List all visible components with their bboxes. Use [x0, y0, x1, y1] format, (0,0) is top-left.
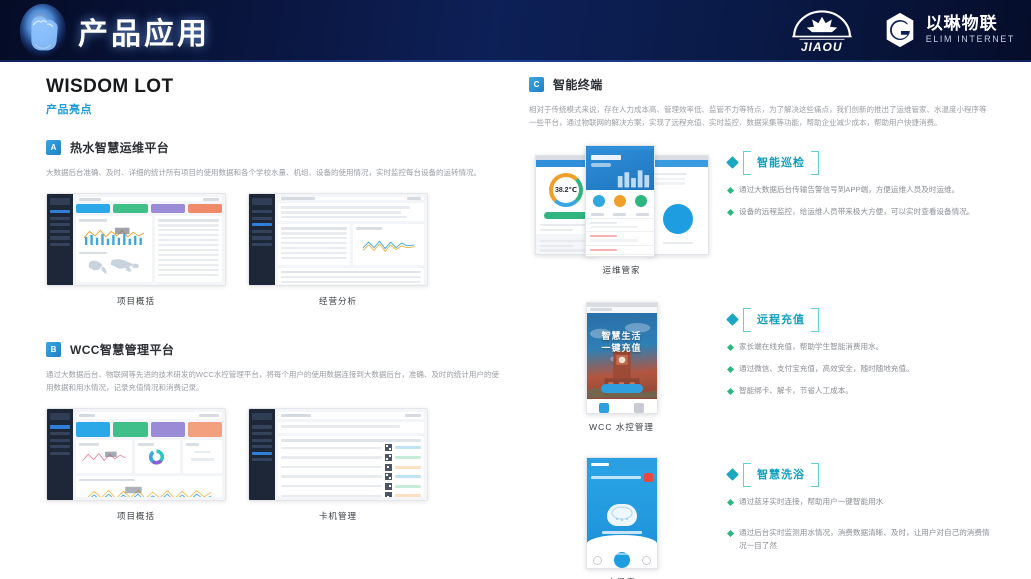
status-pill	[544, 212, 588, 219]
terminal-caption: 运维管家	[529, 264, 714, 276]
device-badge-icon	[644, 473, 653, 482]
list-item: 通过蓝牙实时连接，帮助用户一键智能用水	[728, 496, 993, 509]
list-item: 设备的远程监控，给运维人员带来极大方便，可以实时查看设备情况。	[728, 206, 993, 219]
quick-actions[interactable]	[586, 190, 654, 211]
phone-mock[interactable]: 智慧生活 一键充值	[586, 302, 658, 414]
elim-logo-cn: 以琳物联	[926, 15, 1015, 33]
phone-mock[interactable]	[586, 457, 658, 569]
section-a-shots: 项目概括	[46, 193, 505, 307]
page-header: 产品应用 JIAOU 以琳物联 ELIM I	[0, 0, 1031, 62]
qr-code-icon	[385, 483, 392, 490]
section-b-desc: 通过大数据后台、物联网等先进的技术研发的WCC水控管理平台，将每个用户的使用数据…	[46, 368, 505, 394]
dashboard-screenshot[interactable]	[248, 193, 428, 286]
list-item: 家长端在线充值，帮助学生智能消费用水。	[728, 341, 993, 354]
stat-panel	[183, 440, 222, 473]
page-title: 产品应用	[78, 9, 210, 53]
bullet-icon	[727, 388, 734, 395]
feature-block: 智慧洗浴 通过蓝牙实时连接，帮助用户一键智能用水 通过后台实时监测用水情况，消费…	[728, 457, 993, 579]
qr-code-icon	[385, 492, 392, 497]
section-a-header: A 热水智慧运维平台	[46, 139, 505, 156]
section-b-header: B WCC智慧管理平台	[46, 341, 505, 358]
section-b-badge: B	[46, 342, 61, 357]
donut-chart-panel	[135, 440, 180, 473]
shot-card[interactable]: 经营分析	[248, 193, 428, 307]
qr-code-icon	[385, 473, 392, 480]
section-c-title: 智能终端	[553, 76, 603, 93]
bullet-icon	[727, 366, 734, 373]
bullet-icon	[727, 499, 734, 506]
dashboard-screenshot[interactable]	[46, 408, 226, 501]
section-c-desc: 相对于传统模式来说，存在人力成本高、管理效率低、监管不力等特点，为了解决这些痛点…	[529, 103, 993, 129]
recharge-button[interactable]	[601, 384, 643, 393]
dashboard-screenshot[interactable]	[46, 193, 226, 286]
diamond-icon	[726, 313, 739, 326]
inspect-button[interactable]	[663, 204, 693, 234]
logo-group: JIAOU 以琳物联 ELIM INTERNET	[783, 6, 1015, 54]
line-chart-panel	[76, 440, 132, 473]
section-c-header: C 智能终端	[529, 76, 993, 93]
temperature-gauge: 38.2℃	[549, 173, 583, 207]
diamond-icon	[726, 156, 739, 169]
data-table-panel	[155, 216, 222, 282]
elim-logo-en: ELIM INTERNET	[926, 35, 1015, 44]
feature-label: 智能巡检	[743, 151, 819, 173]
feature-block: 远程充值 家长端在线充值，帮助学生智能消费用水。 通过微信、支付宝充值，高效安全…	[728, 302, 993, 433]
city-illustration-icon	[614, 166, 652, 188]
bar-chart-panel	[76, 216, 152, 282]
terminal-caption: WCC 水控管理	[529, 421, 714, 433]
section-a-title: 热水智慧运维平台	[70, 139, 169, 156]
section-b-title: WCC智慧管理平台	[70, 341, 174, 358]
elim-logo: 以琳物联 ELIM INTERNET	[881, 11, 1015, 49]
feature-label: 智慧洗浴	[743, 463, 819, 485]
phone-mock[interactable]	[585, 145, 655, 257]
bullet-icon	[727, 209, 734, 216]
dashboard-sidebar	[249, 194, 275, 285]
shot-caption: 项目概括	[46, 295, 226, 307]
dashboard-sidebar	[47, 194, 73, 285]
terminal-block: 38.2℃	[529, 145, 993, 276]
bottom-tabbar[interactable]	[587, 399, 657, 414]
qr-code-icon	[385, 464, 392, 471]
list-item: 通过大数据后台传输告警信号到APP端，方便运维人员及时运维。	[728, 184, 993, 197]
bullet-icon	[727, 187, 734, 194]
right-column: C 智能终端 相对于传统模式来说，存在人力成本高、管理效率低、监管不力等特点，为…	[515, 76, 993, 579]
wcc-hero-line2: 一键充值	[587, 341, 657, 354]
section-b-shots: 项目概括	[46, 408, 505, 522]
dashboard-screenshot[interactable]	[248, 408, 428, 501]
phone-mock[interactable]	[647, 155, 709, 255]
kpi-cards	[76, 204, 222, 213]
terminal-block: 水温度 智慧洗浴 通过蓝牙实时连接，帮助用户一键智能用水	[529, 457, 993, 579]
terminal-phone-group[interactable]: 智慧生活 一键充值 WCC 水控管理	[529, 302, 714, 433]
line-chart-panel	[353, 224, 425, 265]
shot-caption: 卡机管理	[248, 510, 428, 522]
kpi-cards	[76, 422, 222, 437]
feature-block: 智能巡检 通过大数据后台传输告警信号到APP端，方便运维人员及时运维。 设备的远…	[728, 145, 993, 276]
shot-card[interactable]: 项目概括	[46, 408, 226, 522]
fist-icon	[14, 2, 72, 60]
brand-title: WISDOM LOT	[46, 76, 505, 98]
feature-label: 远程充值	[743, 308, 819, 330]
bullet-icon	[727, 344, 734, 351]
card-table-panel	[278, 436, 424, 497]
shower-head-icon	[607, 504, 637, 526]
world-map-icon	[79, 257, 149, 274]
terminal-block: 智慧生活 一键充值 WCC 水控管理 远程充值	[529, 302, 993, 433]
dashboard-sidebar	[47, 409, 73, 500]
shot-caption: 经营分析	[248, 295, 428, 307]
section-a-badge: A	[46, 140, 61, 155]
data-table-panel	[278, 224, 350, 265]
slide-body: WISDOM LOT 产品亮点 A 热水智慧运维平台 大数据后台准确、及时、详细…	[0, 62, 1031, 579]
shot-caption: 项目概括	[46, 510, 226, 522]
list-item: 智能绑卡、解卡，节省人工成本。	[728, 385, 993, 398]
elim-g-icon	[881, 11, 919, 49]
wcc-hero: 智慧生活 一键充值	[587, 313, 657, 399]
shot-card[interactable]: 项目概括	[46, 193, 226, 307]
list-item: 通过微信、支付宝充值，高效安全，随时随地充值。	[728, 363, 993, 376]
left-column: WISDOM LOT 产品亮点 A 热水智慧运维平台 大数据后台准确、及时、详细…	[18, 76, 515, 579]
jiaou-logo-text: JIAOU	[783, 40, 861, 54]
brand-subtitle: 产品亮点	[46, 101, 505, 117]
diamond-icon	[726, 468, 739, 481]
qr-code-icon	[385, 454, 392, 461]
bottom-tabbar[interactable]	[587, 546, 657, 569]
shot-card[interactable]: 卡机管理	[248, 408, 428, 522]
product-application-slide: 产品应用 JIAOU 以琳物联 ELIM I	[0, 0, 1031, 579]
terminal-phone-group[interactable]: 38.2℃	[529, 145, 714, 276]
dashboard-sidebar	[249, 409, 275, 500]
sunrise-arch-icon	[783, 6, 861, 42]
jiaou-logo: JIAOU	[783, 6, 861, 54]
section-c-badge: C	[529, 77, 544, 92]
combo-chart-panel	[76, 476, 222, 498]
qr-code-icon	[385, 444, 392, 451]
temperature-panel	[587, 470, 657, 546]
terminal-phone-group[interactable]: 水温度	[529, 457, 714, 579]
bullet-icon	[727, 530, 734, 537]
section-a-desc: 大数据后台准确、及时、详细的统计所有项目的使用数据和各个学校水量、机组、设备的使…	[46, 166, 505, 179]
list-item: 通过后台实时监测用水情况，消费数据清晰、及时，让用户对自己的消费情况一目了然	[728, 527, 993, 553]
